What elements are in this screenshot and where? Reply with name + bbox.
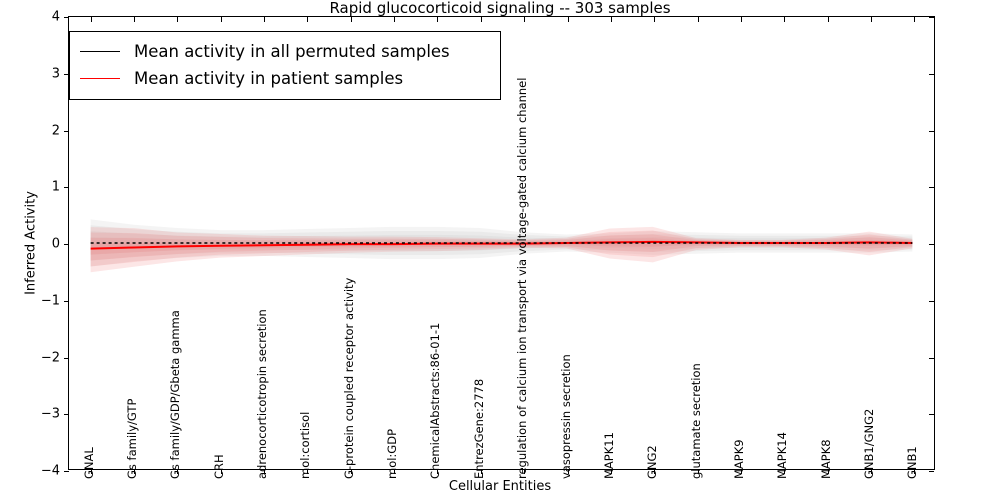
x-tick-label: MAPK9 [732,439,746,479]
legend-line-red [80,78,120,79]
y-tick-mark [64,131,69,132]
y-tick-mark-right [929,244,934,245]
y-tick-mark-right [929,17,934,18]
x-tick-mark-top [784,17,785,22]
x-tick-mark-top [611,17,612,22]
x-tick-label: CRH [212,454,226,479]
chart-title: Rapid glucocorticoid signaling -- 303 sa… [0,0,1000,16]
y-tick-mark [64,414,69,415]
plot-axes: −4−3−2−101234 GNALGs family/GTPGs family… [68,16,935,470]
x-tick-label: GNB1/GNG2 [862,409,876,479]
x-tick-mark-top [307,17,308,22]
x-tick-label: glutamate secretion [689,363,703,479]
x-tick-mark-top [437,17,438,22]
y-tick-label: −1 [41,293,60,308]
x-tick-mark-top [91,17,92,22]
y-tick-mark [64,358,69,359]
y-tick-label: −3 [41,407,60,422]
y-tick-mark-right [929,301,934,302]
x-tick-mark-top [481,17,482,22]
y-tick-label: −2 [41,350,60,365]
y-tick-label: 1 [52,180,60,195]
x-tick-label: Gs family/GDP/Gbeta gamma [168,310,182,479]
y-axis-label: Inferred Activity [24,191,39,295]
x-tick-mark-top [221,17,222,22]
y-tick-mark [64,17,69,18]
x-tick-label: MAPK11 [602,432,616,479]
y-tick-label: −4 [41,464,60,479]
y-tick-label: 4 [52,10,60,25]
x-tick-label: EntrezGene:2778 [472,379,486,479]
y-tick-mark [64,471,69,472]
x-axis-label: Cellular Entities [0,479,1000,494]
legend-line-black [80,51,120,52]
x-tick-mark-top [134,17,135,22]
y-tick-mark [64,187,69,188]
x-tick-label: MAPK8 [819,439,833,479]
x-tick-label: mol:GDP [385,429,399,479]
x-tick-mark-top [828,17,829,22]
x-tick-label: G-protein coupled receptor activity [342,278,356,479]
x-tick-label: Gs family/GTP [125,399,139,479]
x-tick-label: adrenocorticotropin secretion [255,309,269,479]
x-tick-label: MAPK14 [775,432,789,479]
x-tick-mark-top [698,17,699,22]
x-tick-mark-top [568,17,569,22]
chart-figure: Rapid glucocorticoid signaling -- 303 sa… [0,0,1000,500]
x-tick-mark-top [177,17,178,22]
x-tick-label: GNG2 [645,445,659,479]
x-tick-mark-top [394,17,395,22]
y-tick-mark [64,244,69,245]
x-tick-mark-top [741,17,742,22]
y-tick-label: 0 [52,237,60,252]
x-tick-mark-top [871,17,872,22]
x-tick-label: regulation of calcium ion transport via … [515,78,529,479]
x-tick-mark-top [264,17,265,22]
y-tick-mark-right [929,187,934,188]
chart-legend: Mean activity in all permuted samples Me… [69,31,501,100]
y-tick-label: 2 [52,123,60,138]
x-tick-label: GNAL [82,447,96,479]
x-tick-mark-top [351,17,352,22]
legend-item-permuted: Mean activity in all permuted samples [80,38,488,65]
x-tick-label: vasopressin secretion [559,354,573,479]
x-tick-mark-top [524,17,525,22]
legend-label-patient: Mean activity in patient samples [134,69,403,88]
y-tick-mark-right [929,414,934,415]
x-tick-mark-top [914,17,915,22]
legend-item-patient: Mean activity in patient samples [80,65,488,92]
legend-label-permuted: Mean activity in all permuted samples [134,42,450,61]
x-tick-label: ChemicalAbstracts:86-01-1 [428,323,442,479]
y-tick-mark-right [929,358,934,359]
y-tick-label: 3 [52,66,60,81]
x-tick-label: mol:cortisol [298,412,312,479]
x-tick-mark-top [654,17,655,22]
y-tick-mark [64,301,69,302]
y-tick-mark-right [929,131,934,132]
y-tick-mark-right [929,471,934,472]
y-tick-mark-right [929,74,934,75]
x-tick-label: GNB1 [905,446,919,479]
